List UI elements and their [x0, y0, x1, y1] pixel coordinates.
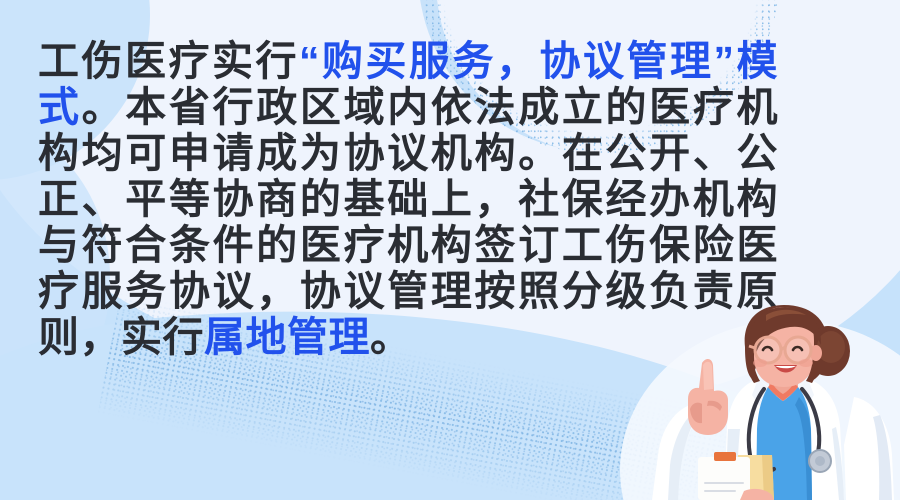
poster-canvas: 工伤医疗实行“购买服务，协议管理”模式。本省行政区域内依法成立的医疗机构均可申请…	[0, 0, 900, 500]
stethoscope-bell-inner	[815, 456, 825, 466]
clipboard-paper	[698, 457, 750, 500]
lens-left	[757, 339, 780, 362]
lens-right	[787, 339, 810, 362]
hair-bun-highlight	[817, 331, 845, 363]
copy-plain-run: 。	[370, 314, 412, 360]
female-doctor-illustration	[640, 305, 900, 500]
copy-plain-run: 工伤医疗实行	[38, 38, 299, 84]
pointing-hand	[688, 359, 728, 435]
clipboard-clip	[714, 452, 736, 461]
index-finger	[703, 362, 713, 390]
copy-accent-run: 属地管理	[204, 314, 370, 360]
blush-right	[799, 359, 813, 367]
blush-left	[753, 359, 767, 367]
